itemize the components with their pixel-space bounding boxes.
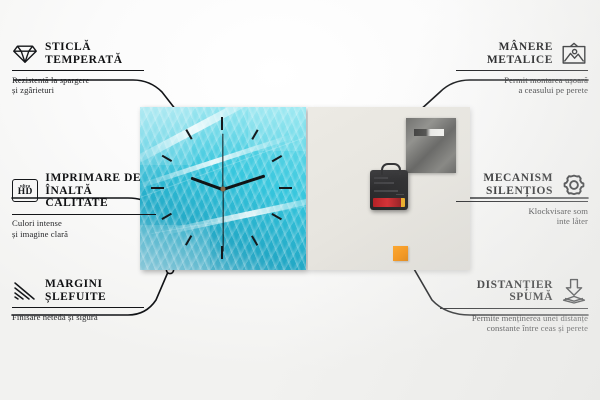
callout-title-line2: ÎNALTĂ CALITATE xyxy=(45,185,156,210)
infographic-canvas: STICLĂ TEMPERATĂ Rezistentă la spargere … xyxy=(0,0,600,400)
callout-subtitle-line1: Rezistentă la spargere xyxy=(12,75,144,85)
callout-title-line1: MÂNERE xyxy=(487,41,553,54)
callout-title-line1: MARGINI xyxy=(45,278,106,291)
diagonal-lines-icon xyxy=(12,280,38,302)
callout-title-line2: TEMPERATĂ xyxy=(45,54,123,67)
callout-divider xyxy=(12,70,144,71)
callout-subtitle-line2: a ceasului pe perete xyxy=(456,85,588,95)
callout-foam-spacer: DISTANȚIER SPUMĂ Permite menținerea unei… xyxy=(440,278,588,333)
callout-title-line2: METALICE xyxy=(487,54,553,67)
callout-subtitle-line1: Finisare netedă și sigură xyxy=(12,312,144,322)
callout-divider xyxy=(456,70,588,71)
clock-face-turquoise-feather xyxy=(140,107,306,270)
callout-divider xyxy=(12,214,156,215)
callout-polished-edges: MARGINI ȘLEFUITE Finisare netedă și sigu… xyxy=(12,278,144,322)
callout-divider xyxy=(12,307,144,308)
callout-tempered-glass: STICLĂ TEMPERATĂ Rezistentă la spargere … xyxy=(12,41,144,95)
gear-icon xyxy=(560,173,588,197)
callout-silent-mechanism: MECANISM SILENȚIOS Klockvisare som inte … xyxy=(456,172,588,226)
diamond-icon xyxy=(12,43,38,65)
callout-title-line1: STICLĂ xyxy=(45,41,123,54)
foam-spacer-pad xyxy=(393,246,408,261)
hanging-picture-icon xyxy=(560,42,588,66)
callout-title-line2: ȘLEFUITE xyxy=(45,291,106,304)
callout-subtitle-line2: și imagine clară xyxy=(12,229,156,239)
clock-back-panel xyxy=(308,107,470,270)
callout-divider xyxy=(440,308,588,309)
callout-subtitle-line1: Permit montarea ușoară xyxy=(456,75,588,85)
product-images xyxy=(140,107,470,270)
clock-center-hub xyxy=(221,186,226,191)
callout-title-line1: IMPRIMARE DE xyxy=(45,172,156,185)
quartz-movement xyxy=(370,170,408,210)
callout-title-line2: SILENȚIOS xyxy=(483,185,553,198)
metal-hanger-plate xyxy=(406,118,456,173)
callout-subtitle-line2: constante între ceas și perete xyxy=(440,323,588,333)
callout-divider xyxy=(456,201,588,202)
callout-subtitle-line1: Culori intense xyxy=(12,218,156,228)
callout-metal-handles: MÂNERE METALICE Permit montarea ușoară a… xyxy=(456,41,588,95)
callout-subtitle-line1: Permite menținerea unei distanțe xyxy=(440,313,588,323)
callout-title-line1: DISTANȚIER xyxy=(477,279,553,292)
callout-high-quality-print: ultra HD IMPRIMARE DE ÎNALTĂ CALITATE Cu… xyxy=(12,172,156,239)
clock-second-hand xyxy=(222,189,223,251)
battery xyxy=(373,198,405,207)
arrow-down-layers-icon xyxy=(560,278,588,304)
callout-subtitle-line2: inte låter xyxy=(456,216,588,226)
callout-title-line1: MECANISM xyxy=(483,172,553,185)
callout-title-line2: SPUMĂ xyxy=(477,291,553,304)
callout-subtitle-line1: Klockvisare som xyxy=(456,206,588,216)
hd-badge-large-text: HD xyxy=(18,188,33,198)
ultra-hd-badge-icon: ultra HD xyxy=(12,179,38,202)
callout-subtitle-line2: și zgârieturi xyxy=(12,85,144,95)
